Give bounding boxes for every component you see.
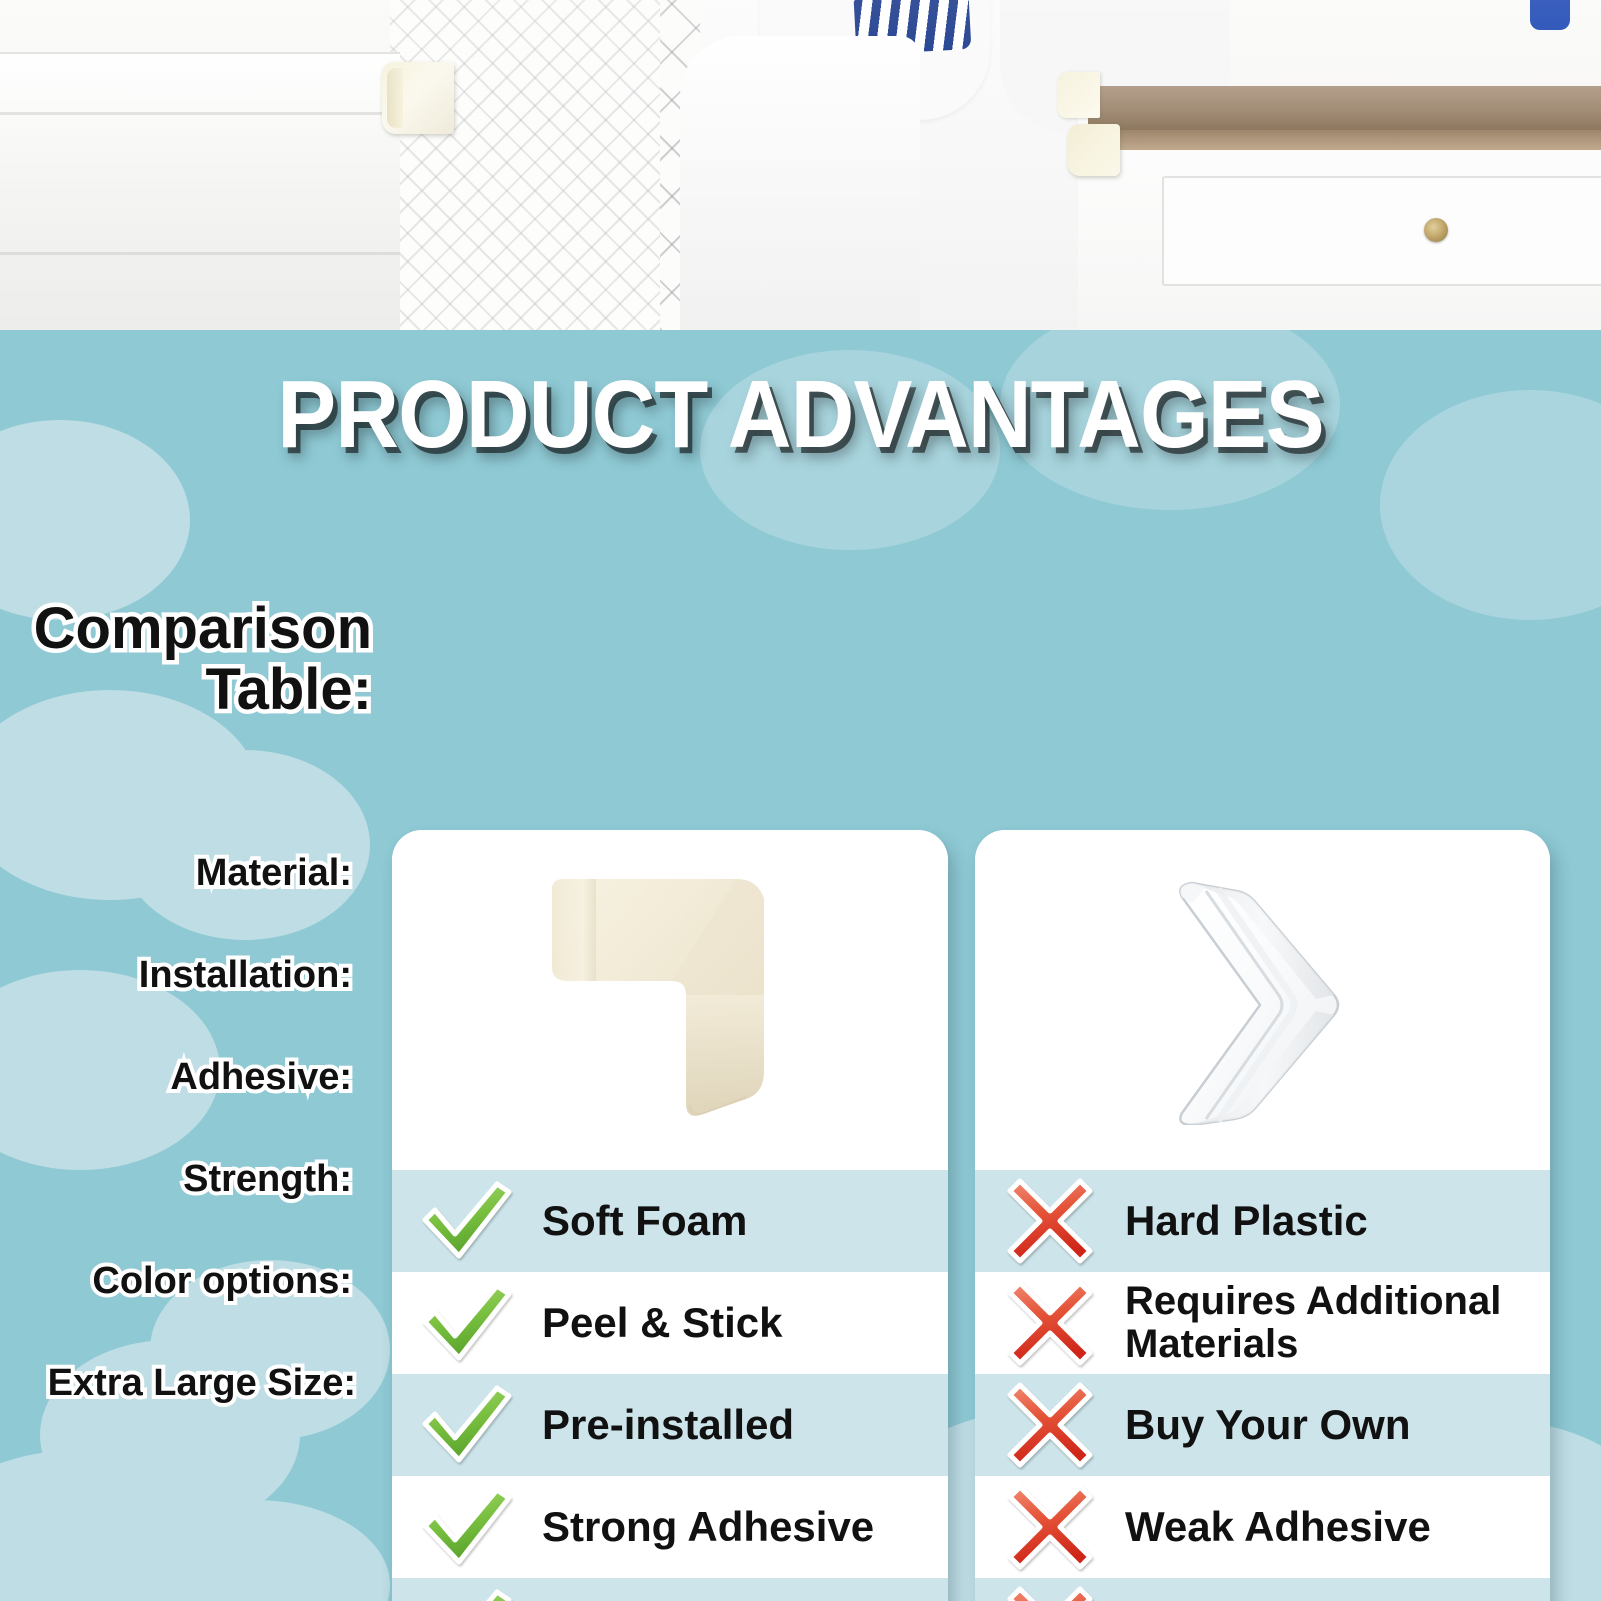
advantages-panel: PRODUCT ADVANTAGES Comparison Table: Mat…: [0, 330, 1601, 1601]
green-check-icon: [392, 1486, 542, 1568]
photo-installed-corner-guard-right: [1068, 124, 1120, 176]
cell-value: Hard Plastic: [1125, 1198, 1380, 1243]
clear-corner-guard-icon: [1148, 875, 1378, 1125]
cell-value: Soft Foam: [542, 1198, 759, 1243]
photo-tabletop-edge: [1088, 130, 1601, 150]
photo-installed-corner-guard-top: [1058, 72, 1100, 118]
cell-value: Strong Adhesive: [542, 1504, 886, 1549]
foam-corner-guard-icon: [540, 875, 800, 1125]
comparison-heading: Comparison Table:: [0, 598, 372, 721]
clear-corner-guard-illustration: [1148, 875, 1378, 1125]
red-x-icon: [975, 1585, 1125, 1601]
infographic-page: PRODUCT ADVANTAGES Comparison Table: Mat…: [0, 0, 1601, 1601]
clear-plastic-corner-guard-image: [975, 830, 1550, 1170]
plastic-value-rows: Hard Plastic Requires Additional Materia…: [975, 1170, 1550, 1601]
lifestyle-room-photo: [0, 0, 1601, 330]
photo-brass-knob: [1424, 218, 1448, 242]
table-row: No: [975, 1578, 1550, 1601]
table-row: Peel & Stick: [392, 1272, 948, 1374]
cell-value: Weak Adhesive: [1125, 1504, 1443, 1549]
green-check-icon: [392, 1180, 542, 1262]
row-label-material: Material:: [0, 852, 352, 895]
table-row: Requires Additional Materials: [975, 1272, 1550, 1374]
row-label-strength: Strength:: [0, 1158, 352, 1201]
page-title: PRODUCT ADVANTAGES: [64, 360, 1537, 470]
cell-value: Peel & Stick: [542, 1300, 794, 1345]
green-check-icon: [392, 1384, 542, 1466]
table-row: Hard Plastic: [975, 1170, 1550, 1272]
photo-sofa-armrest: [680, 36, 920, 330]
cell-value: Requires Additional Materials: [1125, 1280, 1550, 1366]
photo-wood-tabletop: [1088, 86, 1601, 130]
comparison-card-foam: Soft Foam Peel & Stick: [392, 830, 948, 1601]
cell-value: Pre-installed: [542, 1402, 806, 1447]
row-label-extra-large-size: Extra Large Size:: [0, 1362, 356, 1405]
foam-corner-guard-image: [392, 830, 948, 1170]
foam-value-rows: Soft Foam Peel & Stick: [392, 1170, 948, 1601]
photo-table-drawer: [1162, 176, 1601, 286]
green-check-icon: [392, 1588, 542, 1601]
green-check-icon: [392, 1282, 542, 1364]
red-x-icon: [975, 1483, 1125, 1571]
table-row: Yes: [392, 1578, 948, 1601]
row-label-installation: Installation:: [0, 954, 352, 997]
comparison-heading-line1: Comparison: [0, 598, 372, 659]
red-x-icon: [975, 1381, 1125, 1469]
comparison-heading-line2: Table:: [0, 659, 372, 720]
table-row: Strong Adhesive: [392, 1476, 948, 1578]
row-label-adhesive: Adhesive:: [0, 1056, 352, 1099]
row-label-color-options: Color options:: [0, 1260, 352, 1303]
photo-white-dresser: [0, 52, 400, 330]
comparison-card-plastic: Hard Plastic Requires Additional Materia…: [975, 830, 1550, 1601]
table-row: Soft Foam: [392, 1170, 948, 1272]
table-row: Weak Adhesive: [975, 1476, 1550, 1578]
photo-installed-corner-guard-left: [382, 62, 454, 134]
photo-blue-pillow-corner: [1530, 0, 1570, 30]
red-x-icon: [975, 1177, 1125, 1265]
photo-lattice-screen: [390, 0, 680, 330]
red-x-icon: [975, 1279, 1125, 1367]
cell-value: Buy Your Own: [1125, 1402, 1422, 1447]
cloud-shape: [120, 750, 370, 940]
foam-corner-guard-illustration: [540, 875, 800, 1125]
table-row: Pre-installed: [392, 1374, 948, 1476]
table-row: Buy Your Own: [975, 1374, 1550, 1476]
